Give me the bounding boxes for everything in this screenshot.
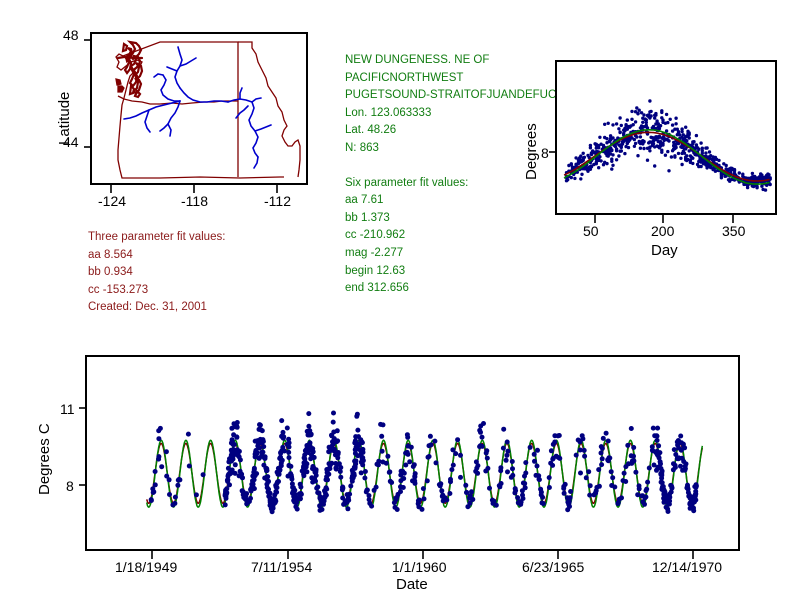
three-param-cc: cc -153.273 — [88, 282, 225, 300]
state-outlines — [116, 42, 300, 178]
seasonal-graphics — [505, 50, 792, 265]
timeseries-graphics — [0, 345, 792, 611]
three-parameter-info-block: Three parameter fit values: aa 8.564 bb … — [88, 229, 225, 317]
station-location-map-panel: Latitude 48 44 -124 -118 -112 — [0, 0, 330, 220]
three-param-bb: bb 0.934 — [88, 264, 225, 282]
six-param-begin: begin 12.63 — [345, 263, 564, 281]
three-param-aa: aa 8.564 — [88, 247, 225, 265]
time-series-panel: Degrees C 11 8 1/18/1949 7/11/1954 1/1/1… — [0, 345, 792, 611]
three-param-header: Three parameter fit values: — [88, 229, 225, 247]
river-network — [124, 47, 271, 168]
day-of-year-seasonal-panel: Degrees 8 50 200 350 Day — [505, 50, 792, 265]
created-date: Created: Dec. 31, 2001 — [88, 299, 225, 317]
timeseries-tick-marks — [79, 408, 693, 559]
map-graphics — [0, 0, 330, 220]
six-param-end: end 312.656 — [345, 280, 564, 298]
